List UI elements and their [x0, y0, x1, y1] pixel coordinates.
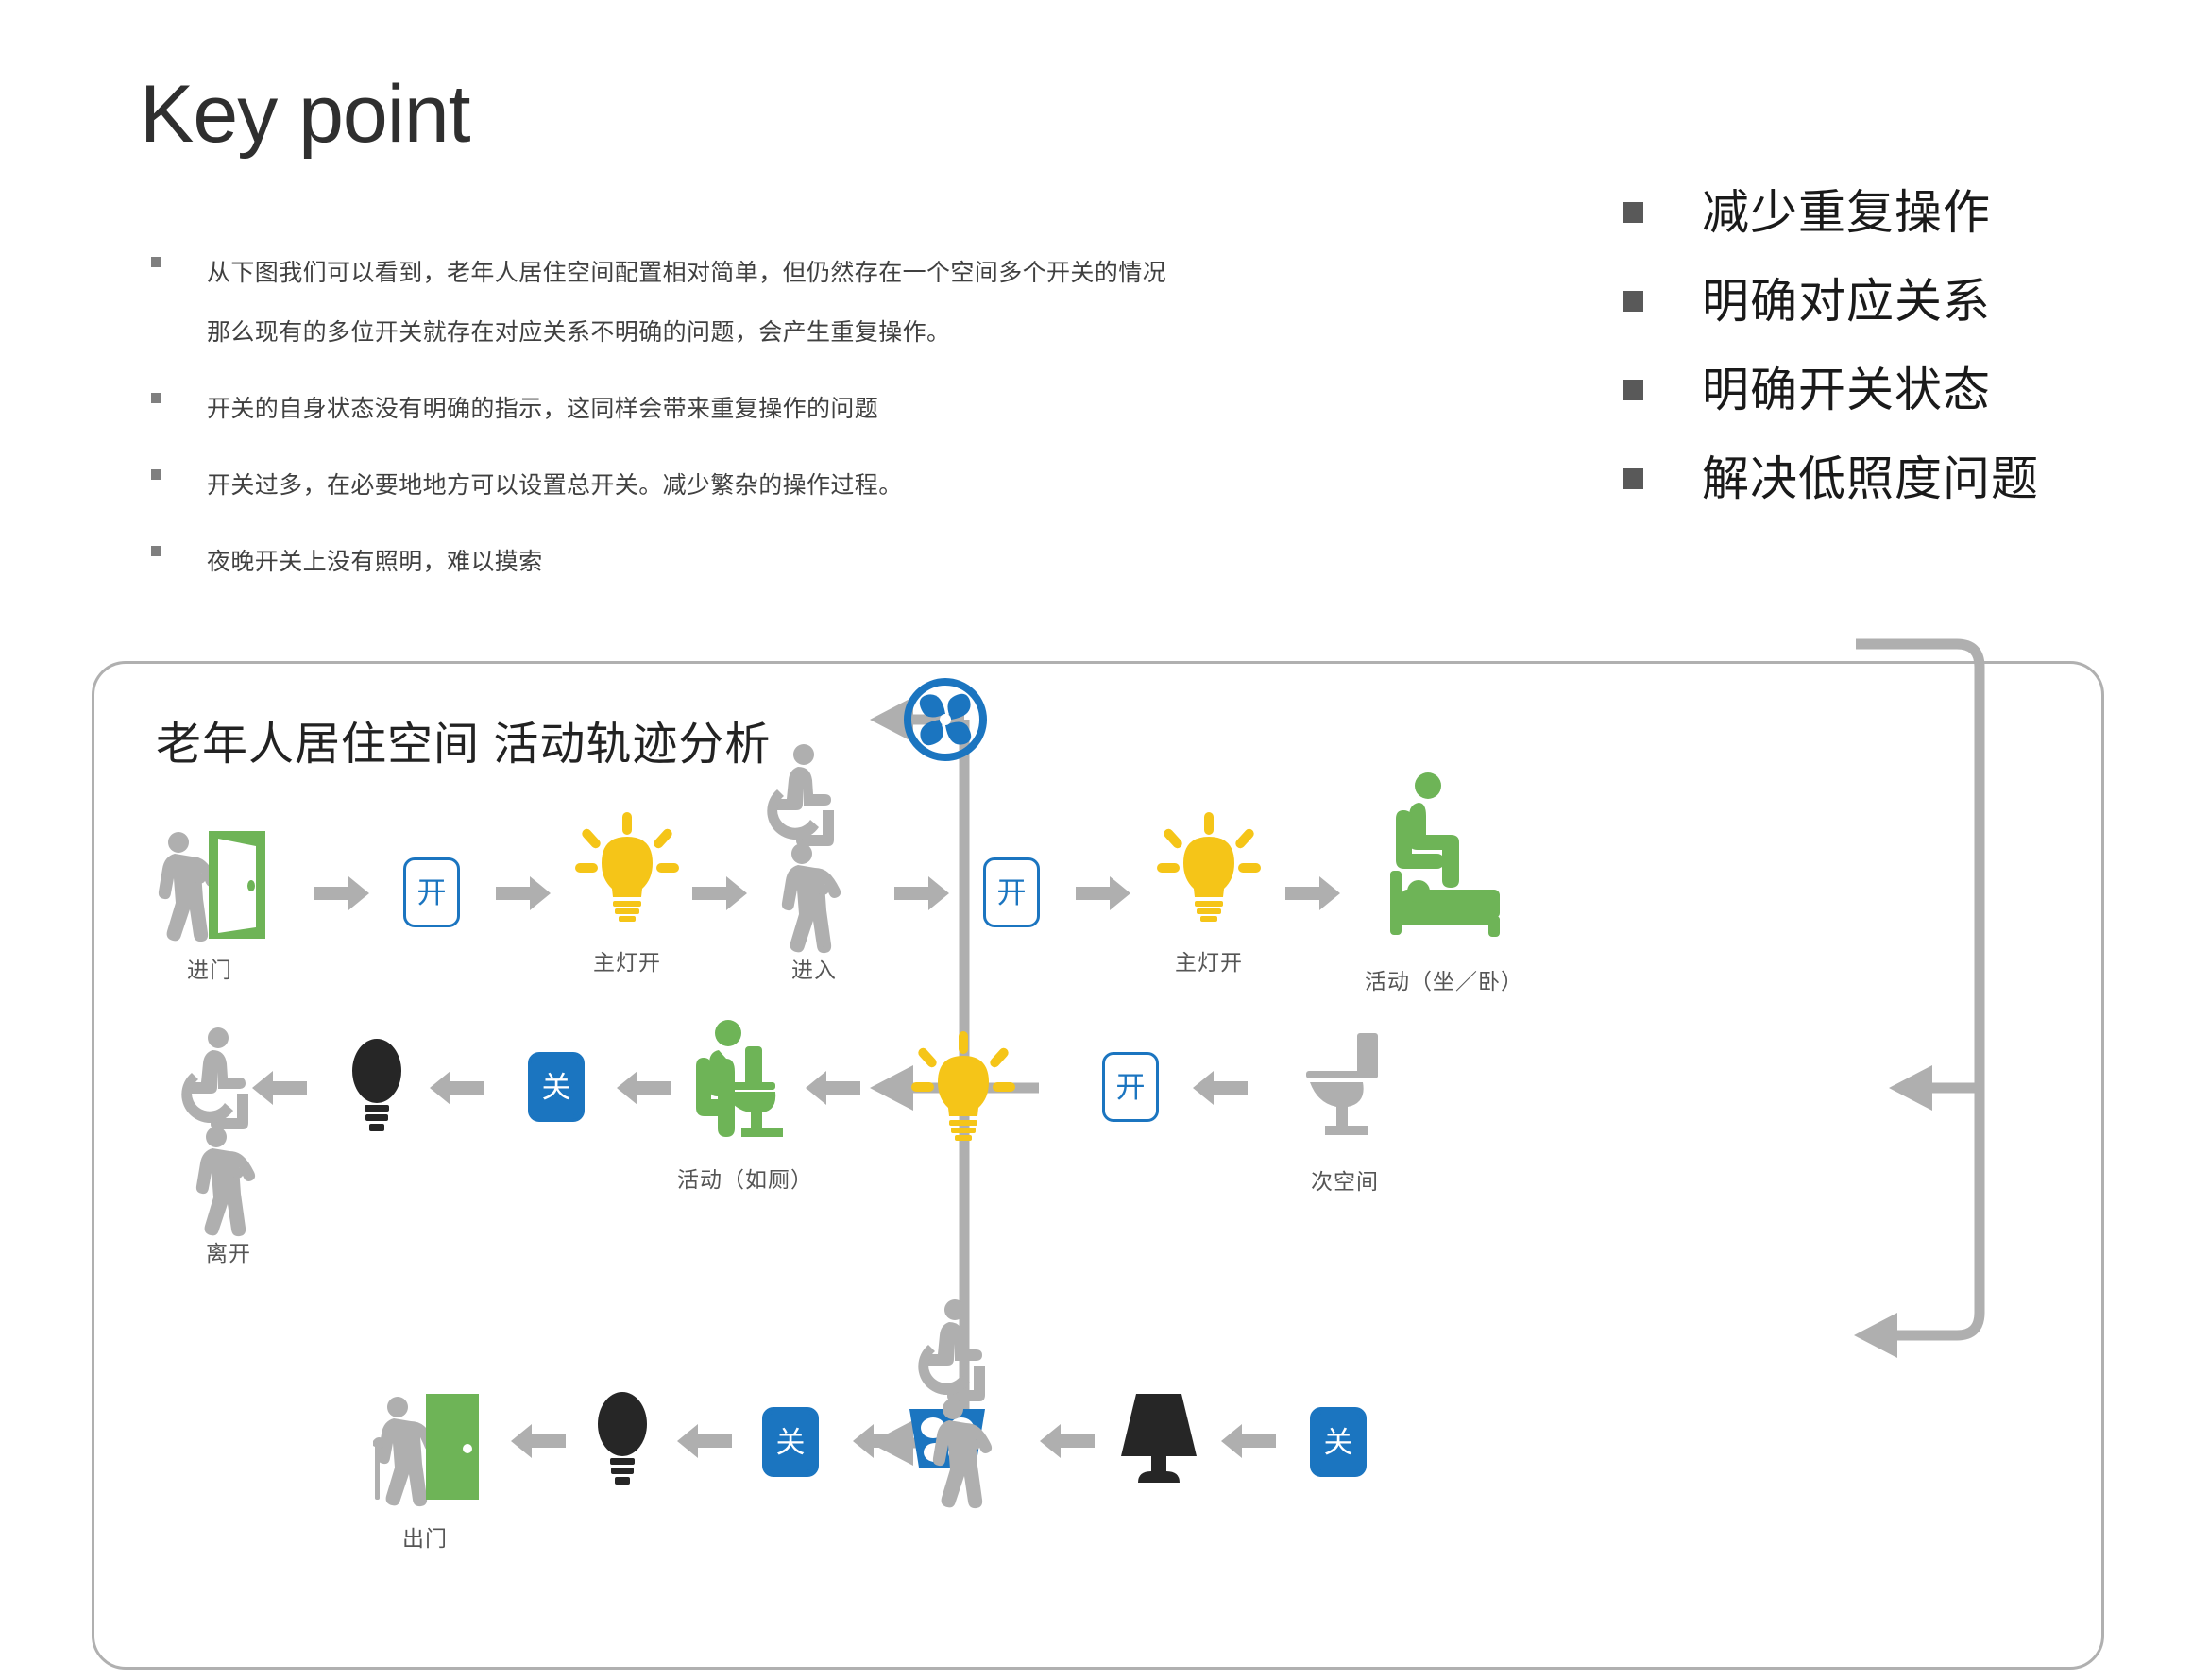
- node-fan[interactable]: [828, 678, 987, 761]
- switch-off-icon[interactable]: 关: [1310, 1407, 1367, 1477]
- node-caption: 主灯开: [1175, 944, 1243, 976]
- node-caption: 次空间: [1311, 1163, 1379, 1196]
- node-switch-on-row2[interactable]: 开: [1102, 1052, 1159, 1122]
- loop-right-arrowhead-mid: [1889, 1065, 1932, 1111]
- bulb-lit-yellow-icon: [1157, 812, 1261, 924]
- node-caption: 进入: [791, 952, 837, 984]
- key-item-3: 解决低照度问题: [1623, 455, 2039, 502]
- key-item-2: 明确开关状态: [1623, 366, 2039, 414]
- key-label: 明确开关状态: [1702, 366, 1991, 414]
- switch-label: 关: [1324, 1428, 1353, 1457]
- arrow-right-4: [894, 876, 949, 910]
- bullet-item: 开关过多，在必要地地方可以设置总开关。减少繁杂的操作过程。: [151, 456, 1266, 516]
- node-table-lamp[interactable]: [1113, 1388, 1204, 1488]
- node-exit-door[interactable]: 出门: [364, 1390, 486, 1553]
- node-main-light-on-2[interactable]: 主灯开: [1157, 812, 1261, 976]
- left-bullet-list: 从下图我们可以看到，老年人居住空间配置相对简单，但仍然存在一个空间多个开关的情况…: [151, 244, 1266, 609]
- arrow-right-6: [1285, 876, 1340, 910]
- arrow-left-5: [1193, 1071, 1248, 1105]
- switch-label: 关: [776, 1428, 806, 1457]
- key-marker-icon: [1623, 380, 1643, 400]
- node-caption: 进门: [187, 952, 232, 984]
- key-marker-icon: [1623, 202, 1643, 223]
- node-enter-door[interactable]: 进门: [148, 829, 271, 984]
- arrow-left-10: [1221, 1424, 1276, 1458]
- key-label: 减少重复操作: [1702, 189, 1991, 236]
- bulb-lit-yellow-icon: [575, 812, 679, 924]
- switch-label: 开: [417, 878, 447, 908]
- node-switch-off-3[interactable]: 关: [1310, 1407, 1367, 1477]
- node-switch-on-1[interactable]: 开: [403, 857, 460, 927]
- switch-on-icon[interactable]: 开: [983, 857, 1040, 927]
- loop-right-path: [1856, 644, 1980, 1335]
- node-enter-space[interactable]: 进入: [764, 744, 864, 984]
- arrow-left-6: [511, 1424, 566, 1458]
- node-leave[interactable]: 离开: [178, 1027, 279, 1267]
- bullet-text: 夜晚开关上没有照明，难以摸索: [207, 533, 543, 592]
- bullet-marker-icon: [151, 257, 161, 267]
- node-main-light-on-1[interactable]: 主灯开: [575, 812, 679, 976]
- node-bulb-on-row2[interactable]: [806, 1031, 1015, 1143]
- bulb-off-dark-icon: [347, 1037, 407, 1137]
- arrow-left-9: [1040, 1424, 1095, 1458]
- bullet-marker-icon: [151, 546, 161, 556]
- arrow-right-5: [1076, 876, 1130, 910]
- node-secondary-space[interactable]: 次空间: [1302, 1031, 1387, 1196]
- activity-flow-diagram: 进门 开: [92, 661, 2104, 1670]
- loop-right-arrowhead-bottom: [1854, 1313, 1897, 1358]
- switch-label: 开: [1116, 1073, 1146, 1102]
- bullet-marker-icon: [151, 469, 161, 480]
- key-marker-icon: [1623, 468, 1643, 489]
- node-caption: 离开: [206, 1235, 251, 1267]
- node-wheelchair-elder-row3[interactable]: [915, 1299, 1015, 1496]
- arrow-left-2: [430, 1071, 484, 1105]
- node-bulb-off-1[interactable]: [347, 1037, 407, 1137]
- switch-off-icon[interactable]: 关: [762, 1407, 819, 1477]
- table-lamp-dark-icon: [1113, 1388, 1204, 1488]
- arrow-right-3: [692, 876, 747, 910]
- node-activity-toilet[interactable]: 活动（如厕）: [677, 1020, 813, 1194]
- bullet-text: 开关的自身状态没有明确的指示，这同样会带来重复操作的问题: [207, 380, 878, 439]
- toilet-grey-icon: [1302, 1031, 1387, 1137]
- bullet-text: 开关过多，在必要地地方可以设置总开关。减少繁杂的操作过程。: [207, 456, 903, 516]
- bullet-item: 开关的自身状态没有明确的指示，这同样会带来重复操作的问题: [151, 380, 1266, 439]
- node-bulb-off-2[interactable]: [592, 1390, 653, 1490]
- bulb-off-dark-icon: [592, 1390, 653, 1490]
- node-caption: 活动（如厕）: [677, 1162, 813, 1194]
- node-caption: 活动（坐／卧）: [1365, 963, 1523, 995]
- node-switch-off-1[interactable]: 关: [528, 1052, 585, 1122]
- sit-and-bed-green-icon: [1373, 772, 1515, 948]
- arrow-left-1: [252, 1071, 307, 1105]
- bullet-marker-icon: [151, 393, 161, 403]
- page-title: Key point: [140, 74, 470, 155]
- bulb-lit-yellow-icon: [911, 1031, 1015, 1143]
- key-label: 明确对应关系: [1702, 278, 1991, 325]
- switch-on-icon[interactable]: 开: [403, 857, 460, 927]
- bullet-item: 夜晚开关上没有照明，难以摸索: [151, 533, 1266, 592]
- toilet-sitting-green-icon: [690, 1020, 800, 1137]
- bullet-item: 从下图我们可以看到，老年人居住空间配置相对简单，但仍然存在一个空间多个开关的情况…: [151, 244, 1266, 363]
- bullet-line: 那么现有的多位开关就存在对应关系不明确的问题，会产生重复操作。: [207, 303, 1166, 363]
- elder-at-door-green-icon: [364, 1390, 486, 1503]
- bullet-line: 夜晚开关上没有照明，难以摸索: [207, 533, 543, 592]
- switch-off-icon[interactable]: 关: [528, 1052, 585, 1122]
- bullet-line: 从下图我们可以看到，老年人居住空间配置相对简单，但仍然存在一个空间多个开关的情况: [207, 244, 1166, 303]
- key-item-0: 减少重复操作: [1623, 189, 2039, 236]
- elder-leaving-icon: [178, 1027, 279, 1224]
- arrow-left-7: [677, 1424, 732, 1458]
- arrow-right-2: [496, 876, 551, 910]
- node-caption: 主灯开: [593, 944, 661, 976]
- wheelchair-and-elder-icon: [915, 1299, 1015, 1496]
- key-marker-icon: [1623, 291, 1643, 312]
- bullet-line: 开关的自身状态没有明确的指示，这同样会带来重复操作的问题: [207, 380, 878, 439]
- right-key-list: 减少重复操作 明确对应关系 明确开关状态 解决低照度问题: [1623, 189, 2039, 544]
- elder-at-door-green-icon: [148, 829, 271, 942]
- switch-label: 开: [997, 878, 1027, 908]
- switch-label: 关: [542, 1073, 571, 1102]
- arrow-left-8: [853, 1424, 908, 1458]
- key-label: 解决低照度问题: [1702, 455, 2039, 502]
- node-caption: 出门: [402, 1520, 448, 1553]
- arrow-left-3: [617, 1071, 671, 1105]
- node-activity-sit-lie[interactable]: 活动（坐／卧）: [1365, 772, 1523, 995]
- bullet-line: 开关过多，在必要地地方可以设置总开关。减少繁杂的操作过程。: [207, 456, 903, 516]
- arrow-right-1: [314, 876, 369, 910]
- key-item-1: 明确对应关系: [1623, 278, 2039, 325]
- bullet-text: 从下图我们可以看到，老年人居住空间配置相对简单，但仍然存在一个空间多个开关的情况…: [207, 244, 1166, 363]
- node-switch-on-2[interactable]: 开: [983, 857, 1040, 927]
- switch-on-icon[interactable]: 开: [1102, 1052, 1159, 1122]
- wheelchair-and-elder-icon: [764, 744, 864, 941]
- fan-blue-icon: [904, 678, 987, 761]
- node-switch-off-2[interactable]: 关: [762, 1407, 819, 1477]
